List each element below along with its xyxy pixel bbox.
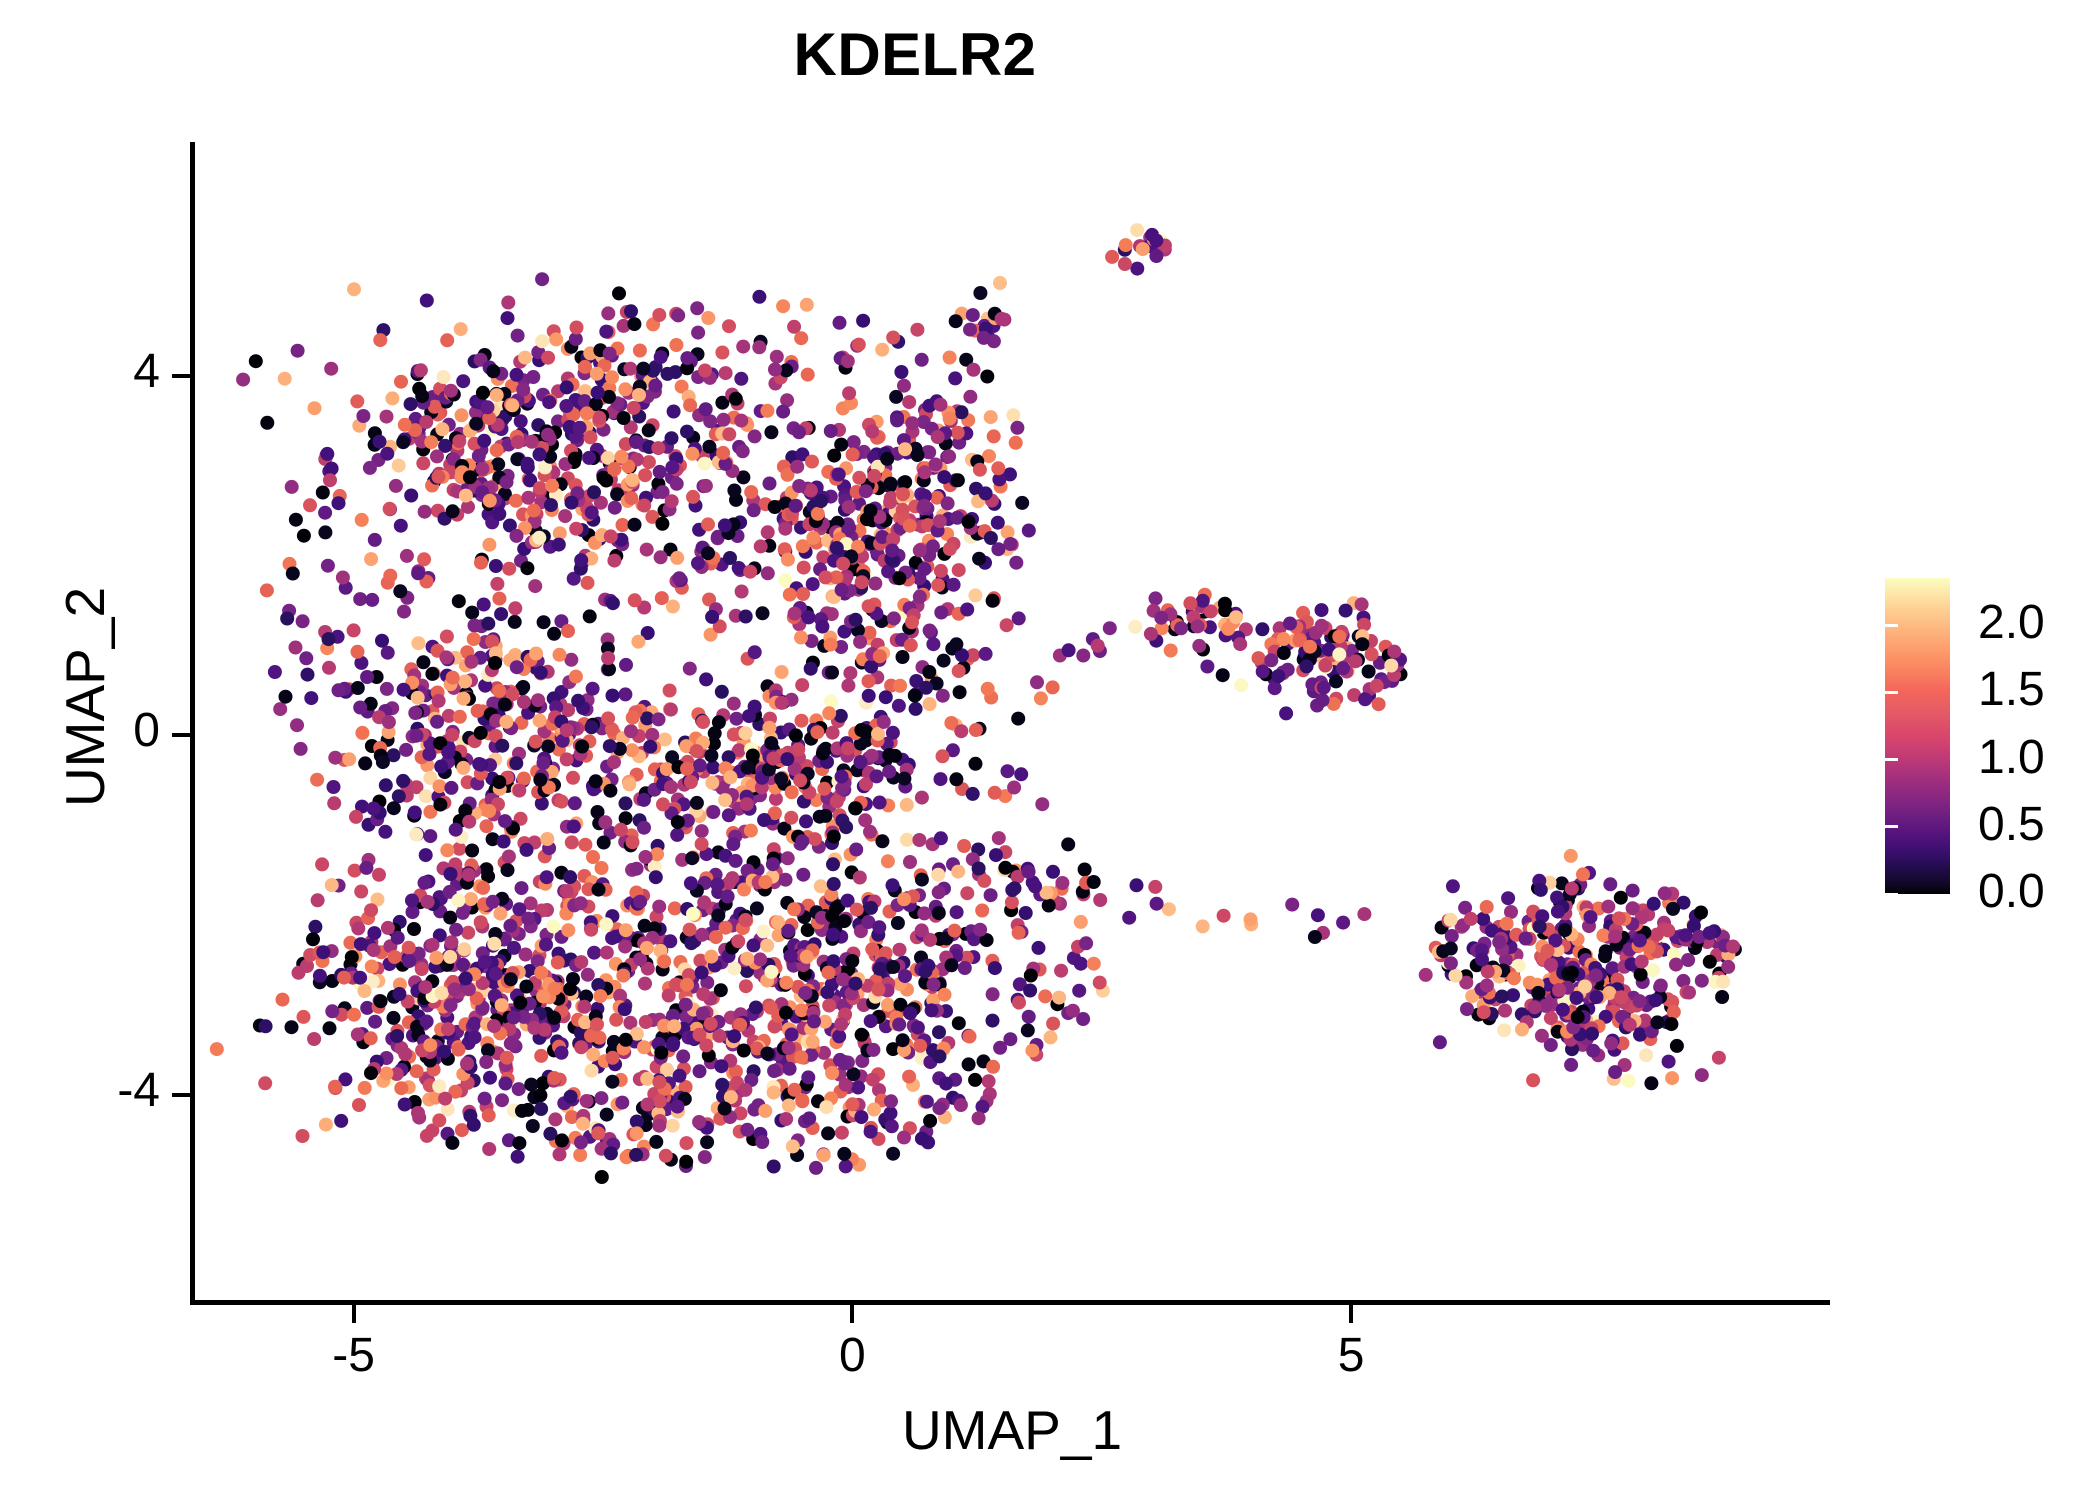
x-tick-mark bbox=[850, 1305, 854, 1323]
x-tick-label: 0 bbox=[782, 1328, 922, 1383]
figure-root: KDELR2 -505 -404 UMAP_1 UMAP_2 2.01.51.0… bbox=[0, 0, 2100, 1500]
scatter-points-layer bbox=[194, 142, 1830, 1302]
x-axis-line bbox=[190, 1300, 1830, 1305]
y-tick-label: -4 bbox=[30, 1063, 160, 1118]
y-tick-mark bbox=[172, 1093, 190, 1097]
colorbar-tick-mark bbox=[2072, 825, 2085, 828]
colorbar-tick-label: 1.5 bbox=[1978, 662, 2045, 717]
y-tick-mark bbox=[172, 733, 190, 737]
x-axis-title: UMAP_1 bbox=[194, 1398, 1830, 1462]
colorbar-tick-label: 2.0 bbox=[1978, 595, 2045, 650]
y-axis-line bbox=[190, 142, 195, 1304]
colorbar-tick-label: 1.0 bbox=[1978, 730, 2045, 785]
colorbar-tick-mark bbox=[2072, 691, 2085, 694]
y-axis-title: UMAP_2 bbox=[53, 347, 117, 1047]
colorbar-tick-mark bbox=[1885, 691, 1898, 694]
colorbar-tick-mark bbox=[1885, 758, 1898, 761]
x-tick-mark bbox=[1349, 1305, 1353, 1323]
colorbar-tick-mark bbox=[2072, 758, 2085, 761]
y-tick-mark bbox=[172, 374, 190, 378]
colorbar-tick-label: 0.5 bbox=[1978, 797, 2045, 852]
x-tick-mark bbox=[352, 1305, 356, 1323]
x-tick-label: 5 bbox=[1281, 1328, 1421, 1383]
colorbar-tick-mark bbox=[1885, 893, 1898, 896]
colorbar-tick-mark bbox=[1885, 624, 1898, 627]
colorbar-tick-label: 0.0 bbox=[1978, 864, 2045, 919]
colorbar-tick-mark bbox=[2072, 893, 2085, 896]
colorbar-legend: 2.01.51.00.50.0 bbox=[1885, 578, 2085, 898]
colorbar-tick-mark bbox=[1885, 825, 1898, 828]
x-tick-label: -5 bbox=[284, 1328, 424, 1383]
page-title: KDELR2 bbox=[0, 22, 1830, 88]
plot-panel bbox=[194, 142, 1830, 1302]
colorbar-tick-mark bbox=[2072, 624, 2085, 627]
